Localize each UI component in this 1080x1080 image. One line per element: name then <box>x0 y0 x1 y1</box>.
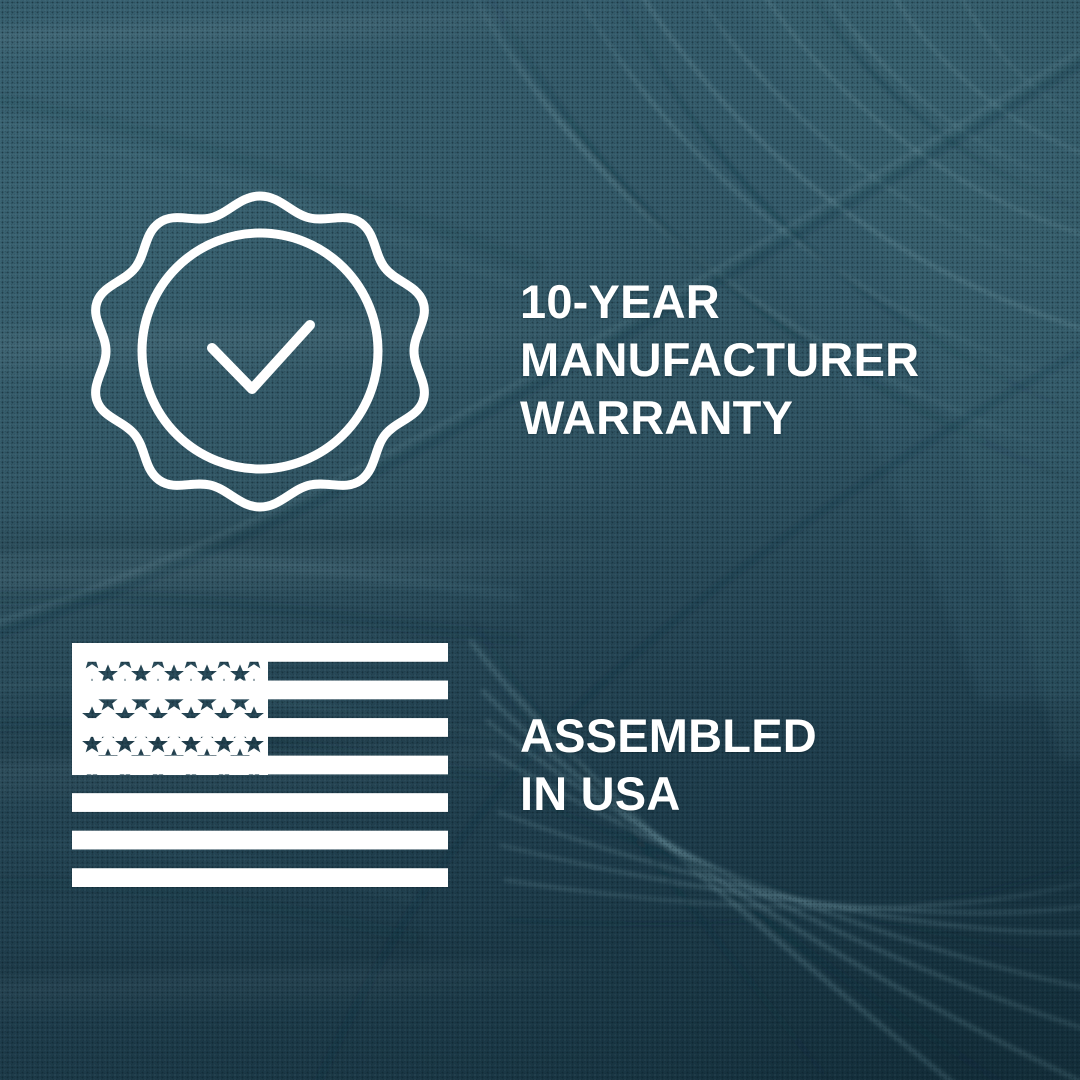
warranty-badge-checkmark-icon <box>84 188 436 532</box>
warranty-icon-cell <box>0 188 520 532</box>
assembled-usa-headline-line-1: ASSEMBLED <box>520 707 1080 765</box>
assembled-usa-headline-line-2: IN USA <box>520 765 1080 823</box>
usa-flag-icon-cell <box>0 643 520 887</box>
warranty-headline-line-3: WARRANTY <box>520 389 1080 447</box>
warranty-headline-line-1: 10-YEAR <box>520 273 1080 331</box>
feature-row-warranty: 10-YEAR MANUFACTURER WARRANTY <box>0 150 1080 570</box>
feature-row-assembled-usa: ASSEMBLED IN USA <box>0 600 1080 930</box>
warranty-headline-line-2: MANUFACTURER <box>520 331 1080 389</box>
assembled-usa-headline: ASSEMBLED IN USA <box>520 707 1080 823</box>
flag-canton-star-field <box>72 643 268 775</box>
usa-text-cell: ASSEMBLED IN USA <box>520 707 1080 823</box>
warranty-text-cell: 10-YEAR MANUFACTURER WARRANTY <box>520 273 1080 447</box>
feature-badge-graphic: 10-YEAR MANUFACTURER WARRANTY <box>0 0 1080 1080</box>
usa-flag-icon <box>72 643 448 887</box>
warranty-headline: 10-YEAR MANUFACTURER WARRANTY <box>520 273 1080 447</box>
